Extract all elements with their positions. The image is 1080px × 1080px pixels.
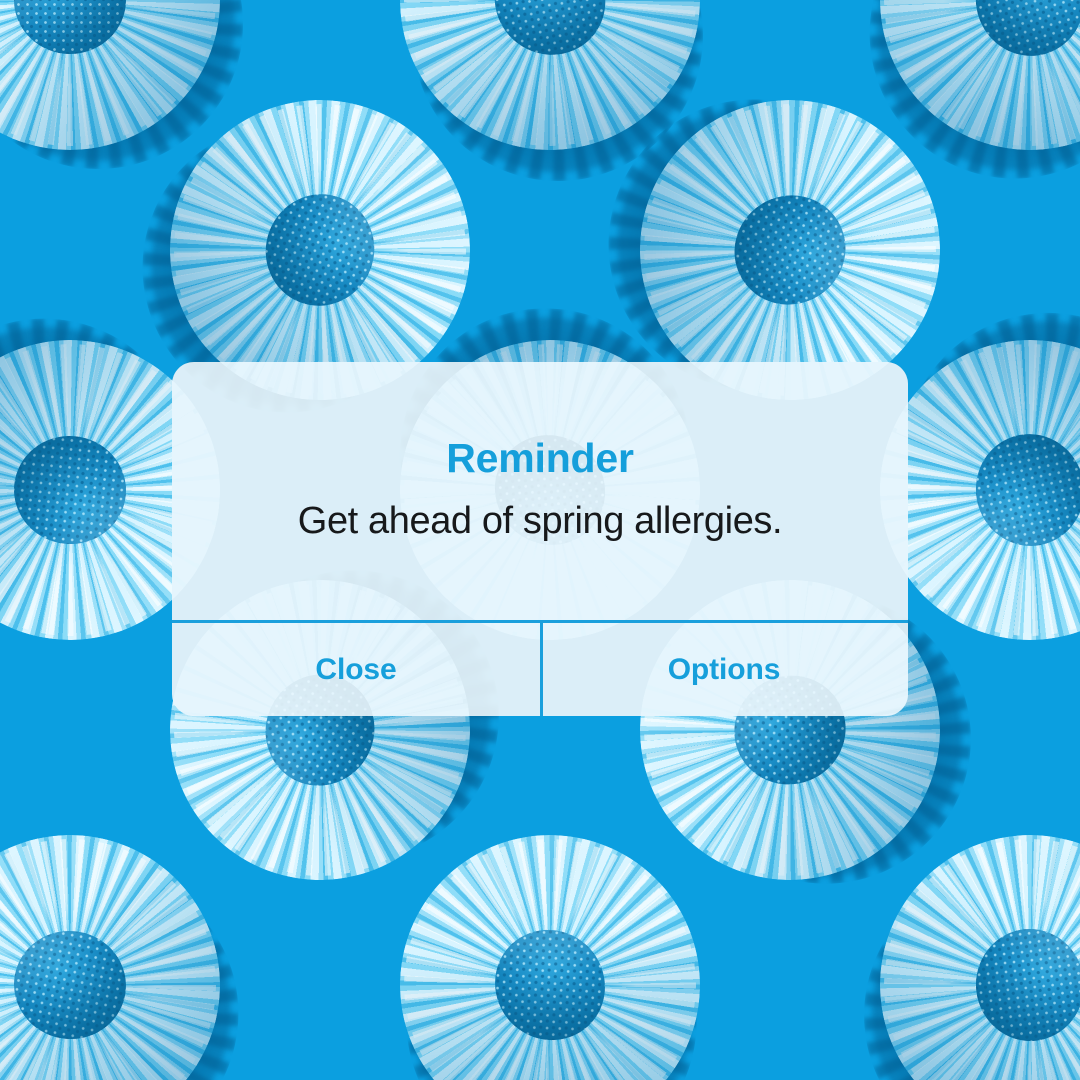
flower-motif bbox=[0, 811, 244, 1080]
close-button[interactable]: Close bbox=[172, 623, 540, 716]
options-button[interactable]: Options bbox=[540, 623, 908, 716]
reminder-dialog: Reminder Get ahead of spring allergies. … bbox=[172, 362, 908, 716]
dialog-title: Reminder bbox=[446, 438, 634, 479]
dialog-message: Get ahead of spring allergies. bbox=[298, 502, 782, 540]
dialog-vertical-divider bbox=[540, 623, 543, 716]
flower-motif bbox=[0, 0, 220, 150]
screen: Reminder Get ahead of spring allergies. … bbox=[0, 0, 1080, 1080]
flower-motif bbox=[865, 820, 1080, 1080]
dialog-content: Reminder Get ahead of spring allergies. bbox=[172, 362, 908, 620]
